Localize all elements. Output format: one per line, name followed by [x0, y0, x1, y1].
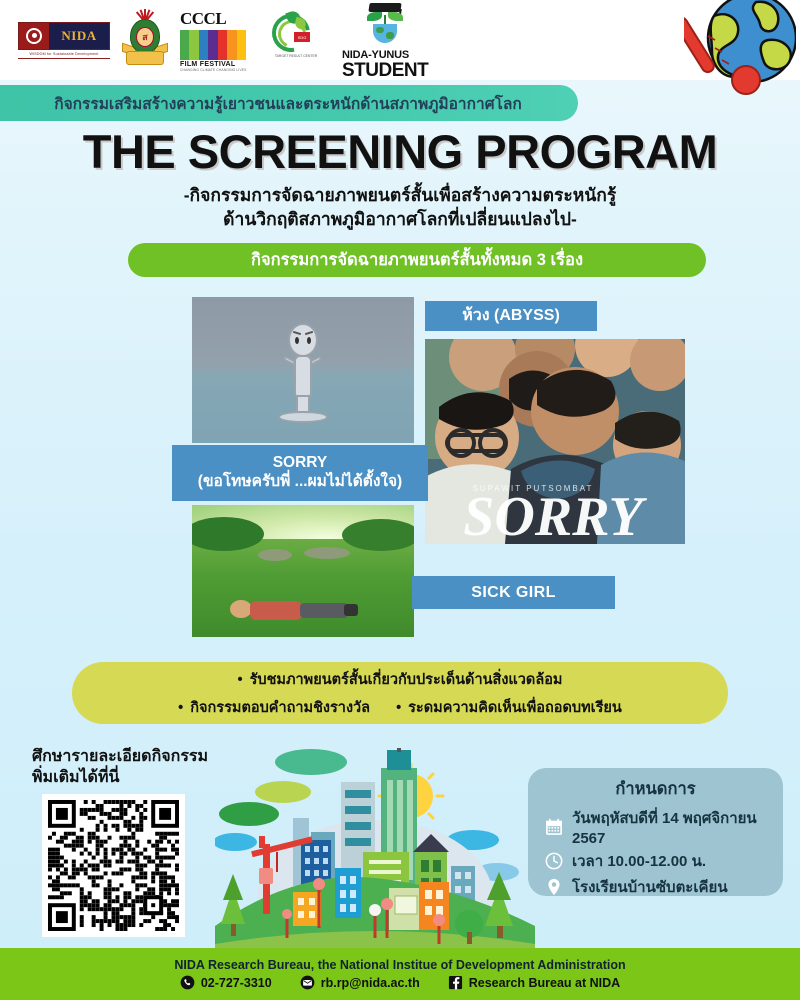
bullet-item: รับชมภาพยนตร์สั้นเกี่ยวกับประเด็นด้านสิ่…	[238, 668, 563, 691]
schedule-row-time: เวลา 10.00-12.00 น.	[528, 848, 783, 874]
teal-banner-text: กิจกรรมเสริมสร้างความรู้เยาวชนและตระหนัก…	[54, 91, 522, 116]
film-count-banner: กิจกรรมการจัดฉายภาพยนตร์สั้นทั้งหมด 3 เร…	[128, 243, 706, 277]
schedule-row-location: โรงเรียนบ้านซับตะเคียน	[528, 874, 783, 900]
schedule-heading: กำหนดการ	[528, 776, 783, 802]
teal-banner: กิจกรรมเสริมสร้างความรู้เยาวชนและตระหนัก…	[0, 85, 578, 121]
film-label-abyss-text: ห้วง (ABYSS)	[462, 306, 560, 325]
cccl-logo-sub: FILM FESTIVAL	[180, 61, 248, 68]
yunus-logo-line2: STUDENT	[342, 61, 428, 80]
film-still-abyss	[192, 297, 414, 443]
film-label-sorry-subtitle: (ขอโทษครับพี่ ...ผมไม่ได้ตั้งใจ)	[198, 473, 402, 492]
cccl-logo-text: CCCL	[180, 9, 248, 29]
film-label-sorry: SORRY (ขอโทษครับพี่ ...ผมไม่ได้ตั้งใจ)	[172, 445, 428, 501]
facebook-icon	[448, 975, 463, 990]
footer-phone-text: 02-727-3310	[201, 976, 272, 990]
page-title: THE SCREENING PROGRAM	[0, 124, 800, 179]
footer-facebook-text: Research Bureau at NIDA	[469, 976, 620, 990]
phone-icon	[180, 975, 195, 990]
activity-bullets-panel: รับชมภาพยนตร์สั้นเกี่ยวกับประเด็นด้านสิ่…	[72, 662, 728, 724]
logo-bar: NIDA WISDOM for Sustainable Development …	[0, 0, 800, 80]
globe-thermometer-icon	[684, 0, 796, 102]
film-still-sick-girl	[192, 505, 414, 637]
green-city-illustration	[215, 748, 535, 960]
svg-text:SORRY: SORRY	[463, 486, 647, 544]
footer-phone[interactable]: 02-727-3310	[180, 975, 272, 990]
nida-logo: NIDA WISDOM for Sustainable Development	[18, 22, 110, 59]
qr-code[interactable]	[42, 794, 185, 937]
page-subtitle: -กิจกรรมการจัดฉายภาพยนตร์สั้นเพื่อสร้างค…	[0, 183, 800, 231]
page-subtitle-line2: ด้านวิกฤติสภาพภูมิอากาศโลกที่เปลี่ยนแปลง…	[0, 207, 800, 231]
film-label-sick-girl: SICK GIRL	[412, 576, 615, 609]
schedule-time-text: เวลา 10.00-12.00 น.	[572, 849, 706, 873]
cccl-logo-sub2: CHANGING CLIMATE CHANGING LIVES	[180, 68, 248, 72]
schedule-row-date: วันพฤหัสบดีที่ 14 พฤศจิกายน 2567	[528, 805, 783, 848]
schedule-location-text: โรงเรียนบ้านซับตะเคียน	[572, 875, 728, 899]
logo-group: NIDA WISDOM for Sustainable Development …	[18, 8, 428, 72]
qr-instruction-line1: ศึกษารายละเอียดกิจกรรม	[32, 746, 208, 767]
film-count-text: กิจกรรมการจัดฉายภาพยนตร์สั้นทั้งหมด 3 เร…	[251, 247, 583, 273]
film-label-abyss: ห้วง (ABYSS)	[425, 301, 597, 331]
bullet-item: กิจกรรมตอบคำถามชิงรางวัล	[178, 696, 370, 719]
sick-girl-figure	[228, 597, 358, 623]
film-label-sorry-title: SORRY	[273, 454, 328, 473]
bullet-row-2: กิจกรรมตอบคำถามชิงรางวัล ระดมความคิดเห็น…	[178, 696, 622, 719]
film-still-sorry: SORRY SUPAWIT PUTSOMBAT	[425, 339, 685, 544]
envelope-icon	[300, 975, 315, 990]
sdg-leaf-logo: SDG TARGET RESULT CENTER	[262, 12, 328, 68]
sdg-leaf-caption: TARGET RESULT CENTER	[266, 54, 326, 58]
page-subtitle-line1: -กิจกรรมการจัดฉายภาพยนตร์สั้นเพื่อสร้างค…	[0, 183, 800, 207]
film-label-sick-girl-text: SICK GIRL	[471, 583, 556, 602]
clock-icon	[544, 851, 564, 871]
footer-email-text: rb.rp@nida.ac.th	[321, 976, 420, 990]
footer-bar: NIDA Research Bureau, the National Insti…	[0, 948, 800, 1000]
royal-seal-logo: ส	[124, 9, 166, 71]
footer-facebook[interactable]: Research Bureau at NIDA	[448, 975, 620, 990]
graduation-cap-plant-icon	[367, 1, 403, 45]
footer-org-name: NIDA Research Bureau, the National Insti…	[174, 958, 625, 972]
location-pin-icon	[544, 877, 564, 897]
calendar-icon	[544, 817, 564, 837]
footer-contacts: 02-727-3310 rb.rp@nida.ac.th Research Bu…	[180, 975, 620, 990]
footer-email[interactable]: rb.rp@nida.ac.th	[300, 975, 420, 990]
nida-yunus-student-logo: NIDA-YUNUS STUDENT	[342, 1, 428, 80]
cccl-film-festival-logo: CCCL FILM FESTIVAL CHANGING CLIMATE CHAN…	[180, 9, 248, 72]
bullet-item: ระดมความคิดเห็นเพื่อถอดบทเรียน	[396, 696, 622, 719]
nida-logo-tagline: WISDOM for Sustainable Development	[18, 52, 110, 59]
svg-text:SUPAWIT PUTSOMBAT: SUPAWIT PUTSOMBAT	[473, 484, 594, 493]
nida-target-icon	[26, 28, 42, 44]
qr-instruction-line2: พิ่มเติมได้ที่นี่	[32, 767, 208, 788]
schedule-date-text: วันพฤหัสบดีที่ 14 พฤศจิกายน 2567	[572, 806, 783, 847]
bullet-row-1: รับชมภาพยนตร์สั้นเกี่ยวกับประเด็นด้านสิ่…	[238, 668, 563, 691]
cccl-color-stripes	[180, 30, 246, 60]
nida-logo-text: NIDA	[61, 28, 96, 44]
poster-canvas: NIDA WISDOM for Sustainable Development …	[0, 0, 800, 1000]
abyss-character-figure	[276, 323, 330, 427]
qr-instruction: ศึกษารายละเอียดกิจกรรม พิ่มเติมได้ที่นี่	[32, 746, 208, 788]
schedule-panel: กำหนดการ วันพฤหัสบดีที่ 14 พฤศจิกายน 256…	[528, 768, 783, 896]
yunus-logo-line1: NIDA-YUNUS	[342, 50, 428, 61]
